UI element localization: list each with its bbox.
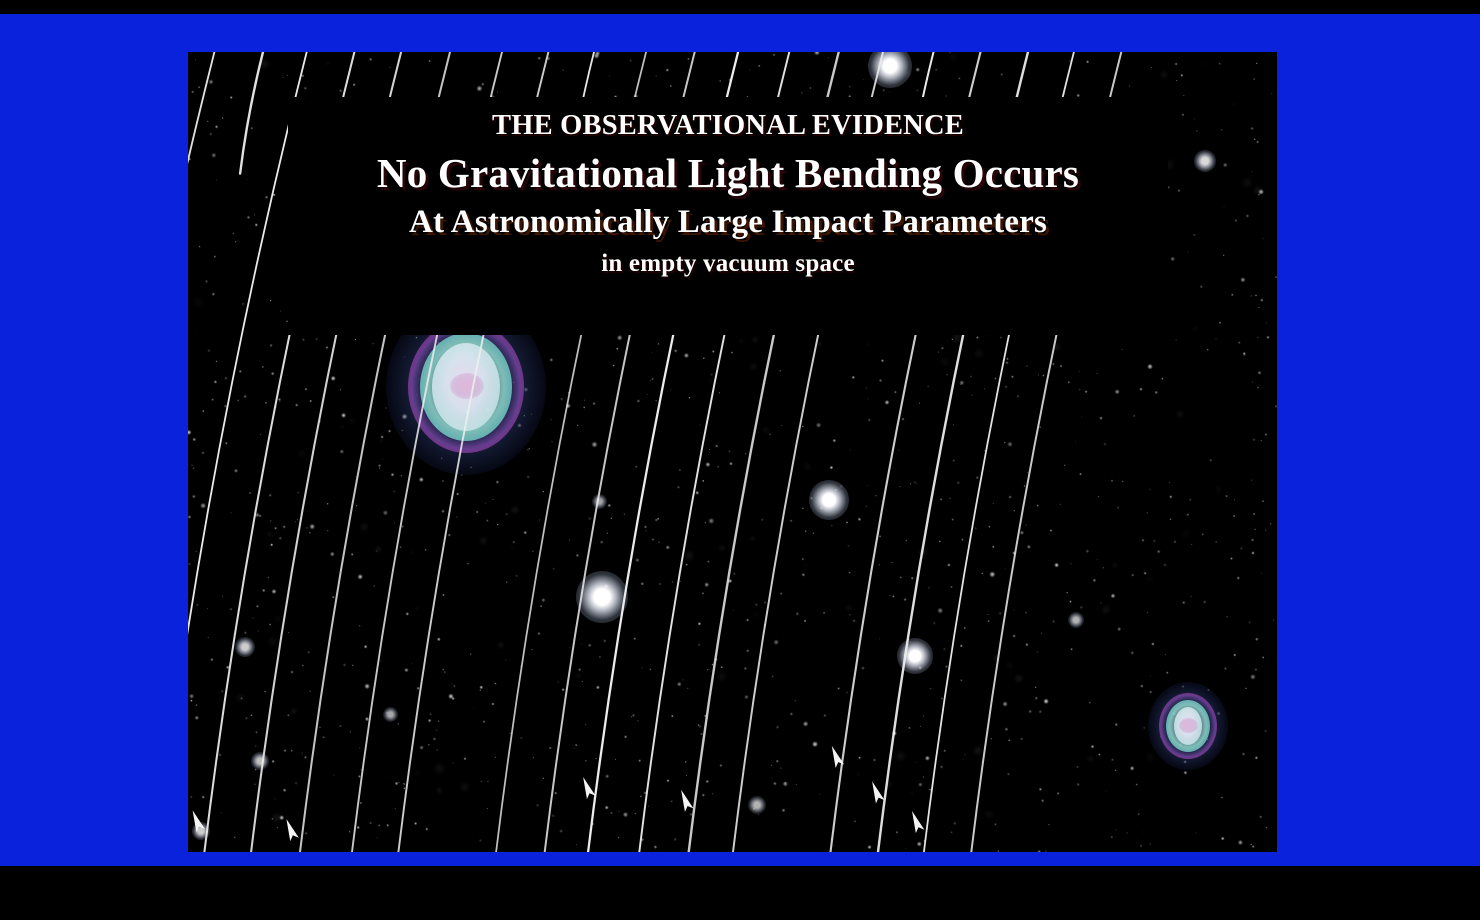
title-line-headline: No Gravitational Light Bending Occurs <box>288 141 1168 197</box>
light-ray-arrowhead <box>579 775 596 799</box>
light-ray <box>240 52 263 174</box>
title-line-footnote: in empty vacuum space <box>288 242 1168 279</box>
light-ray-arrowhead <box>908 809 925 833</box>
light-ray-arrowhead <box>868 780 885 804</box>
light-ray-arrowhead <box>677 788 694 812</box>
light-ray <box>188 52 214 852</box>
starfield-photograph: THE OBSERVATIONAL EVIDENCE No Gravitatio… <box>188 52 1277 852</box>
title-line-eyebrow: THE OBSERVATIONAL EVIDENCE <box>288 97 1168 141</box>
title-text-block: THE OBSERVATIONAL EVIDENCE No Gravitatio… <box>288 97 1168 335</box>
light-ray-arrowhead <box>188 809 205 833</box>
slide-canvas: THE OBSERVATIONAL EVIDENCE No Gravitatio… <box>0 0 1480 920</box>
title-line-subhead: At Astronomically Large Impact Parameter… <box>288 197 1168 242</box>
light-ray-arrowhead <box>282 817 299 841</box>
